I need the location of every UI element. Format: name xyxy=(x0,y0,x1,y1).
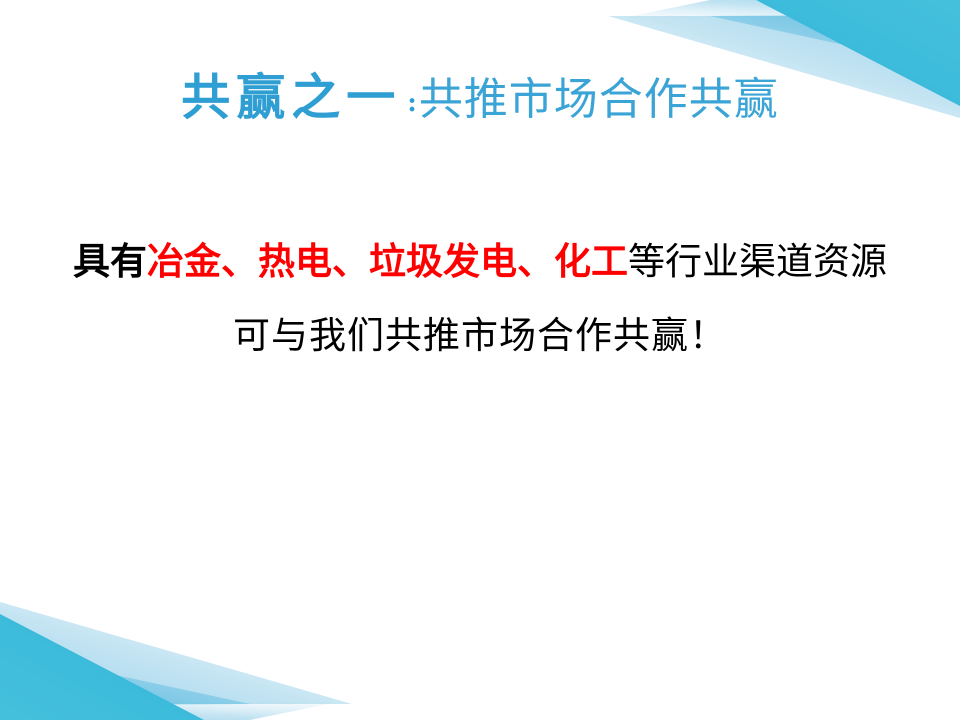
slide-title-subtitle: 共推市场合作共赢 xyxy=(419,74,779,125)
body-line-2: 可与我们共推市场合作共赢！ xyxy=(0,317,960,354)
ribbon-band-pale-upper xyxy=(0,702,338,720)
ribbon-band-pale xyxy=(0,602,352,706)
slide-title-separator: : xyxy=(401,88,419,118)
body-line-1-suffix: 等行业渠道资源 xyxy=(628,240,887,283)
body-line-1: 具有冶金、热电、垃圾发电、化工等行业渠道资源 xyxy=(0,243,960,280)
ribbon-band-pale-upper xyxy=(622,0,960,18)
corner-ribbon-bottom-left xyxy=(0,560,400,720)
body-line-2-text: 可与我们共推市场合作共赢！ xyxy=(233,314,727,357)
slide-canvas: 共赢之一:共推市场合作共赢 具有冶金、热电、垃圾发电、化工等行业渠道资源 可与我… xyxy=(0,0,960,720)
body-line-1-highlight: 冶金、热电、垃圾发电、化工 xyxy=(147,240,628,283)
slide-body: 具有冶金、热电、垃圾发电、化工等行业渠道资源 可与我们共推市场合作共赢！ xyxy=(0,243,960,354)
ribbon-band-mid xyxy=(0,650,250,704)
corner-ribbon-bottom-left-svg xyxy=(0,560,400,720)
body-line-1-prefix: 具有 xyxy=(73,240,147,283)
slide-title-emphasis: 共赢之一 xyxy=(181,68,401,126)
slide-title: 共赢之一:共推市场合作共赢 xyxy=(0,58,960,129)
ribbon-triangle-solid xyxy=(0,614,204,720)
